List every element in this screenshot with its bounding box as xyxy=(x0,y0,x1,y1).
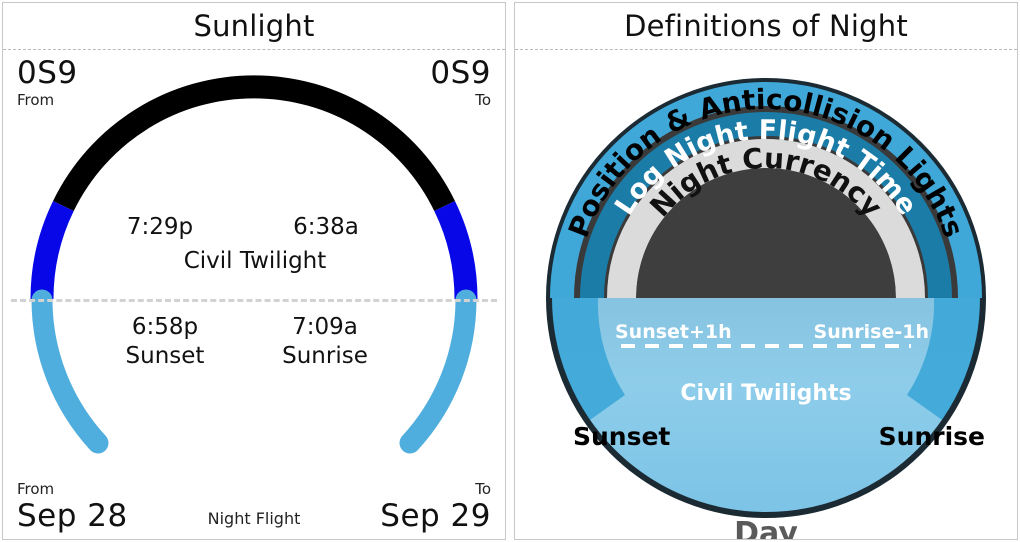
arc-day-right xyxy=(410,300,466,443)
night-definitions-diagram: Position & Anticollision Lights Log Nigh… xyxy=(515,50,1017,540)
label-sunset: Sunset xyxy=(573,422,670,451)
to-airport-code: 0S9 xyxy=(430,58,491,89)
from-airport: 0S9 From xyxy=(17,58,78,112)
from-airport-label: From xyxy=(17,89,78,112)
to-airport-label: To xyxy=(430,89,491,112)
arc-civil-twilight-right xyxy=(445,206,466,299)
page-title: Definitions of Night xyxy=(515,3,1017,49)
arc-civil-twilight-left xyxy=(42,206,63,299)
arc-night xyxy=(63,87,444,206)
sunlight-panel: Sunlight xyxy=(2,2,506,540)
label-sunrise-minus-1h: Sunrise-1h xyxy=(814,321,929,343)
screenshot-root: Sunlight xyxy=(0,0,1020,542)
definitions-panel-body: Position & Anticollision Lights Log Nigh… xyxy=(515,50,1017,539)
sunlight-gauge: 7:29p 6:38a Civil Twilight 6:58p Sunset … xyxy=(3,50,505,540)
label-sunrise: Sunrise xyxy=(879,422,985,451)
sunlight-panel-body: 7:29p 6:38a Civil Twilight 6:58p Sunset … xyxy=(3,50,505,539)
page-title: Sunlight xyxy=(3,3,505,49)
definitions-of-night-panel: Definitions of Night xyxy=(514,2,1018,540)
label-sunset-plus-1h: Sunset+1h xyxy=(615,321,732,343)
arc-day-left xyxy=(42,300,98,443)
to-airport: 0S9 To xyxy=(430,58,491,112)
label-day: Day xyxy=(515,516,1017,540)
from-date-label: From xyxy=(17,478,128,501)
night-rings-graphic: Position & Anticollision Lights Log Nigh… xyxy=(515,50,1017,540)
sunlight-arc-graphic xyxy=(3,50,505,540)
night-flight-caption: Night Flight xyxy=(3,509,505,528)
to-date-label: To xyxy=(380,478,491,501)
horizon-dashed-line xyxy=(11,299,497,302)
label-civil-twilights: Civil Twilights xyxy=(515,381,1017,406)
from-airport-code: 0S9 xyxy=(17,58,78,89)
